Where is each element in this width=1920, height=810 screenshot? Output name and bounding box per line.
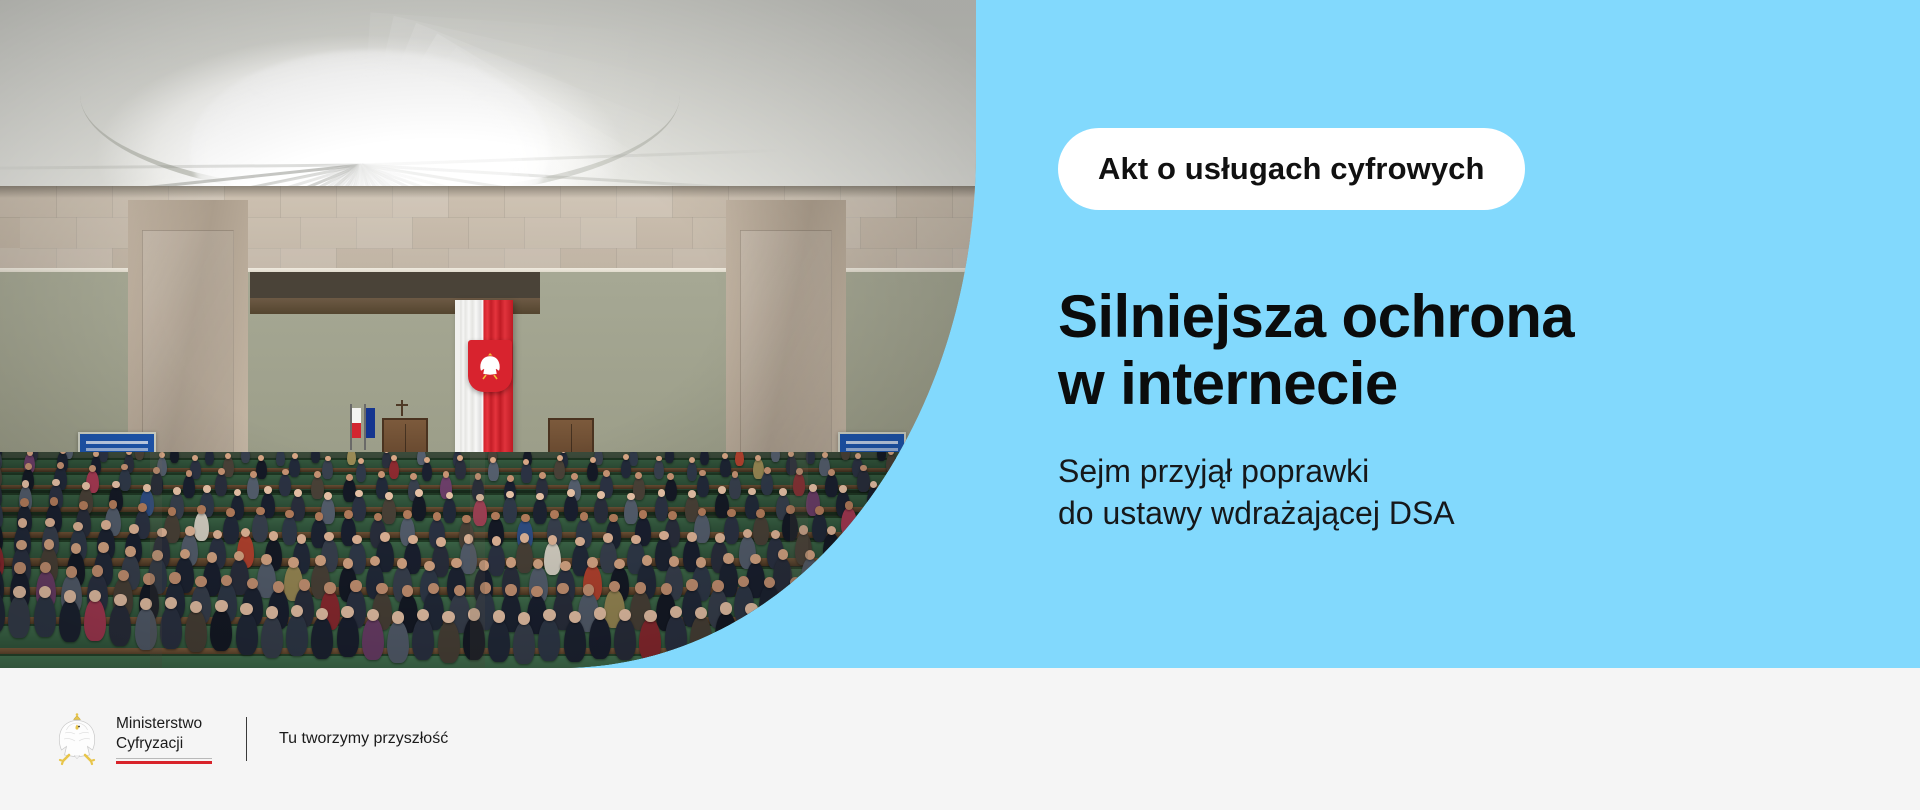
member-head — [314, 471, 321, 478]
footer-tagline: Tu tworzymy przyszłość — [279, 730, 448, 748]
member-head — [325, 456, 331, 462]
member-head — [631, 535, 641, 545]
member-head — [720, 602, 732, 614]
member-head — [192, 455, 198, 461]
member-head — [828, 469, 835, 476]
member-head — [635, 582, 646, 593]
member-head — [543, 609, 555, 621]
member-of-parliament — [825, 474, 837, 497]
member-head — [658, 489, 666, 497]
page-subtitle: Sejm przyjął poprawki do ustawy wdrażają… — [1058, 450, 1778, 534]
member-head — [506, 557, 517, 568]
marble-block — [20, 217, 77, 249]
member-of-parliament — [729, 476, 741, 499]
member-of-parliament — [356, 463, 367, 482]
member-head — [79, 501, 88, 510]
member-of-parliament — [412, 618, 434, 660]
member-of-parliament — [282, 516, 298, 545]
member-head — [764, 467, 771, 474]
member-of-parliament — [554, 460, 565, 479]
member-head — [66, 566, 77, 577]
member-of-parliament — [521, 463, 532, 482]
member-head — [343, 558, 354, 569]
member-of-parliament — [654, 460, 665, 479]
chamber-aisle — [150, 452, 162, 668]
member-head — [569, 611, 581, 623]
member-head — [659, 531, 669, 541]
member-head — [125, 546, 136, 557]
member-head — [424, 561, 435, 572]
member-head — [518, 612, 530, 624]
member-of-parliament — [735, 452, 744, 466]
wordmark-rule-gray — [116, 758, 212, 759]
member-head — [269, 531, 279, 541]
footer-divider — [246, 717, 247, 761]
member-head — [346, 474, 353, 481]
member-head — [778, 549, 789, 560]
member-of-parliament — [347, 452, 356, 465]
ministry-line-2: Cyfryzacji — [116, 734, 212, 754]
member-of-parliament — [256, 460, 267, 479]
member-head — [688, 490, 696, 498]
marble-block — [636, 217, 693, 249]
member-head — [240, 603, 252, 615]
member-head — [197, 505, 206, 514]
member-of-parliament — [544, 542, 561, 574]
member-of-parliament — [170, 452, 179, 463]
marble-block — [244, 217, 301, 249]
member-of-parliament — [34, 595, 56, 637]
member-head — [635, 472, 642, 479]
member-of-parliament — [720, 458, 731, 477]
member-head — [376, 583, 387, 594]
marble-block — [76, 217, 133, 249]
member-head — [507, 475, 514, 482]
marble-block — [356, 217, 413, 249]
polish-eagle-emblem-icon — [52, 711, 102, 767]
member-head — [261, 554, 272, 565]
member-of-parliament — [412, 495, 426, 521]
member-of-parliament — [382, 498, 396, 524]
category-badge-label: Akt o usługach cyfrowych — [1098, 151, 1485, 187]
member-of-parliament — [252, 513, 268, 542]
member-of-parliament — [223, 457, 234, 476]
member-head — [668, 511, 677, 520]
member-head — [57, 462, 64, 469]
member-head — [185, 526, 195, 536]
member-of-parliament — [185, 610, 207, 652]
member-head — [550, 510, 559, 519]
member-head — [575, 537, 585, 547]
member-of-parliament — [516, 541, 533, 573]
member-of-parliament — [503, 497, 517, 523]
member-head — [109, 500, 118, 509]
subtitle-line-2: do ustawy wdrażającej DSA — [1058, 492, 1778, 534]
member-of-parliament — [286, 614, 308, 656]
member-head — [493, 610, 505, 622]
footer-bar: Ministerstwo Cyfryzacji Tu tworzymy przy… — [0, 668, 1920, 810]
member-of-parliament — [513, 622, 535, 664]
member-of-parliament — [564, 495, 578, 521]
banner-root: Akt o usługach cyfrowych Silniejsza ochr… — [0, 0, 1920, 810]
member-head — [114, 594, 126, 606]
member-head — [138, 503, 147, 512]
member-of-parliament — [194, 512, 210, 541]
marble-block — [412, 217, 469, 249]
member-head — [352, 535, 362, 545]
member-head — [324, 492, 332, 500]
member-head — [457, 455, 463, 461]
wall-cross — [401, 400, 403, 416]
member-head — [207, 552, 218, 563]
eu-desk-flag — [366, 408, 375, 438]
member-of-parliament — [665, 479, 677, 502]
member-head — [603, 470, 610, 477]
member-of-parliament — [337, 615, 359, 657]
member-of-parliament — [665, 452, 674, 463]
headline-line-1: Silniejsza ochrona — [1058, 284, 1778, 351]
member-of-parliament — [761, 472, 773, 495]
member-of-parliament — [589, 617, 611, 659]
member-head — [661, 583, 672, 594]
member-of-parliament — [697, 475, 709, 498]
member-head — [169, 572, 180, 583]
member-head — [45, 518, 55, 528]
member-head — [118, 570, 129, 581]
member-head — [567, 489, 575, 497]
member-of-parliament — [587, 462, 598, 481]
member-head — [560, 561, 571, 572]
member-of-parliament — [624, 499, 638, 525]
member-head — [442, 611, 454, 623]
member-head — [619, 609, 631, 621]
member-of-parliament — [236, 613, 258, 655]
member-head — [168, 507, 177, 516]
member-of-parliament — [857, 470, 869, 493]
member-head — [583, 584, 594, 595]
member-head — [215, 600, 227, 612]
member-head — [623, 454, 629, 460]
member-head — [839, 485, 847, 493]
pylon-inset — [142, 230, 234, 464]
member-head — [129, 524, 139, 534]
pylon-inset — [740, 230, 832, 464]
member-head — [855, 453, 861, 459]
member-of-parliament — [247, 476, 259, 499]
member-of-parliament — [724, 515, 740, 544]
polish-coat-of-arms-shield — [468, 340, 512, 392]
member-head — [13, 586, 25, 598]
member-head — [490, 457, 496, 463]
member-head — [22, 480, 30, 488]
member-head — [288, 557, 299, 568]
member-head — [266, 606, 278, 618]
member-of-parliament — [362, 618, 384, 660]
member-of-parliament — [438, 621, 460, 663]
member-of-parliament — [183, 475, 195, 498]
member-head — [695, 607, 707, 619]
member-head — [557, 583, 568, 594]
member-head — [727, 509, 736, 518]
member-of-parliament — [261, 616, 283, 658]
member-of-parliament — [160, 607, 182, 649]
member-of-parliament — [311, 477, 323, 500]
member-of-parliament — [241, 452, 250, 463]
ministry-wordmark: Ministerstwo Cyfryzacji — [116, 714, 212, 765]
member-head — [590, 457, 596, 463]
member-head — [294, 489, 302, 497]
member-head — [93, 452, 99, 457]
member-head — [689, 457, 695, 463]
member-head — [531, 586, 542, 597]
member-head — [82, 482, 90, 490]
member-head — [385, 492, 393, 500]
member-head — [597, 491, 605, 499]
member-head — [18, 518, 28, 528]
member-head — [696, 557, 707, 568]
category-badge[interactable]: Akt o usługach cyfrowych — [1058, 128, 1525, 210]
member-head — [670, 606, 682, 618]
member-head — [408, 535, 418, 545]
member-head — [273, 581, 284, 592]
member-head — [264, 486, 272, 494]
member-head — [186, 470, 193, 477]
member-of-parliament — [614, 618, 636, 660]
member-of-parliament — [422, 462, 433, 481]
member-head — [20, 498, 29, 507]
poland-desk-flag — [352, 408, 361, 438]
member-of-parliament — [223, 515, 239, 544]
member-head — [686, 579, 697, 590]
member-head — [392, 611, 404, 623]
marble-block — [916, 217, 973, 249]
wall-shadow — [0, 186, 976, 198]
member-head — [315, 555, 326, 566]
member-of-parliament — [311, 617, 333, 659]
member-of-parliament — [455, 459, 466, 478]
member-of-parliament — [753, 516, 769, 545]
member-head — [64, 590, 76, 602]
member-head — [358, 458, 364, 464]
member-head — [39, 586, 51, 598]
member-head — [603, 533, 613, 543]
member-head — [779, 488, 787, 496]
marble-block — [300, 217, 357, 249]
member-head — [350, 580, 361, 591]
member-head — [433, 512, 442, 521]
member-head — [367, 609, 379, 621]
marble-block — [580, 217, 637, 249]
member-head — [732, 471, 739, 478]
member-head — [436, 537, 446, 547]
member-head — [98, 542, 109, 553]
member-head — [14, 562, 25, 573]
marble-block — [524, 217, 581, 249]
member-head — [250, 471, 257, 478]
member-head — [101, 520, 111, 530]
wordmark-rule-red — [116, 761, 212, 764]
member-of-parliament — [322, 460, 333, 479]
member-head — [380, 532, 390, 542]
member-head — [27, 452, 33, 456]
member-head — [520, 533, 530, 543]
member-head — [324, 582, 335, 593]
member-of-parliament — [135, 452, 144, 460]
member-of-parliament — [488, 620, 510, 662]
member-head — [403, 510, 412, 519]
member-head — [282, 469, 289, 476]
member-head — [723, 553, 734, 564]
member-head — [256, 507, 265, 516]
member-head — [285, 510, 294, 519]
member-head — [44, 539, 55, 550]
member-head — [292, 453, 298, 459]
member-of-parliament — [119, 469, 131, 492]
member-head — [492, 536, 502, 546]
member-of-parliament — [352, 496, 366, 522]
member-head — [809, 484, 817, 492]
member-head — [344, 510, 353, 519]
member-of-parliament — [488, 461, 499, 480]
presidium-rostrum-top — [250, 272, 540, 298]
member-of-parliament — [289, 458, 300, 477]
subtitle-line-1: Sejm przyjął poprawki — [1058, 450, 1778, 492]
member-head — [548, 535, 558, 545]
member-head — [822, 452, 828, 458]
member-head — [173, 487, 181, 495]
member-of-parliament — [564, 620, 586, 662]
member-of-parliament — [533, 499, 547, 525]
member-of-parliament — [389, 460, 400, 479]
screen-text-lines — [846, 441, 898, 444]
member-head — [614, 559, 625, 570]
member-head — [594, 607, 606, 619]
member-of-parliament — [594, 497, 608, 523]
member-head — [715, 533, 725, 543]
member-head — [750, 554, 761, 565]
white-eagle-icon — [475, 350, 505, 382]
screen-text-lines — [86, 441, 148, 444]
member-head — [687, 532, 697, 542]
member-head — [815, 506, 824, 515]
member-of-parliament — [84, 599, 106, 641]
member-of-parliament — [700, 452, 709, 465]
member-of-parliament — [488, 544, 505, 576]
member-head — [73, 522, 83, 532]
member-of-parliament — [59, 600, 81, 642]
member-head — [587, 557, 598, 568]
member-head — [557, 455, 563, 461]
member-head — [639, 510, 648, 519]
member-of-parliament — [621, 459, 632, 478]
ministry-line-1: Ministerstwo — [116, 714, 212, 734]
member-of-parliament — [210, 609, 232, 651]
member-head — [644, 610, 656, 622]
chamber-aisle — [470, 452, 485, 668]
member-head — [341, 606, 353, 618]
member-head — [25, 463, 32, 470]
member-head — [402, 585, 413, 596]
member-head — [355, 490, 363, 498]
member-head — [443, 471, 450, 478]
member-head — [299, 579, 310, 590]
member-of-parliament — [387, 621, 409, 663]
member-of-parliament — [215, 473, 227, 496]
member-head — [297, 534, 307, 544]
member-head — [52, 479, 60, 487]
member-of-parliament — [276, 452, 285, 466]
member-head — [225, 453, 231, 459]
page-title: Silniejsza ochrona w internecie — [1058, 284, 1778, 417]
member-head — [755, 455, 761, 461]
member-head — [539, 472, 546, 479]
footer-content: Ministerstwo Cyfryzacji Tu tworzymy przy… — [52, 668, 448, 810]
member-head — [195, 576, 206, 587]
marble-block — [468, 217, 525, 249]
member-of-parliament — [771, 452, 780, 462]
member-head — [642, 555, 653, 566]
member-head — [609, 514, 618, 523]
member-head — [218, 468, 225, 475]
member-of-parliament — [321, 498, 335, 524]
member-head — [521, 514, 530, 523]
member-head — [669, 556, 680, 567]
headline-line-2: w internecie — [1058, 351, 1778, 418]
member-head — [580, 512, 589, 521]
member-head — [92, 565, 103, 576]
member-head — [712, 580, 723, 591]
marble-block — [860, 217, 917, 249]
member-head — [505, 584, 516, 595]
member-head — [523, 459, 529, 465]
member-of-parliament — [877, 452, 886, 461]
